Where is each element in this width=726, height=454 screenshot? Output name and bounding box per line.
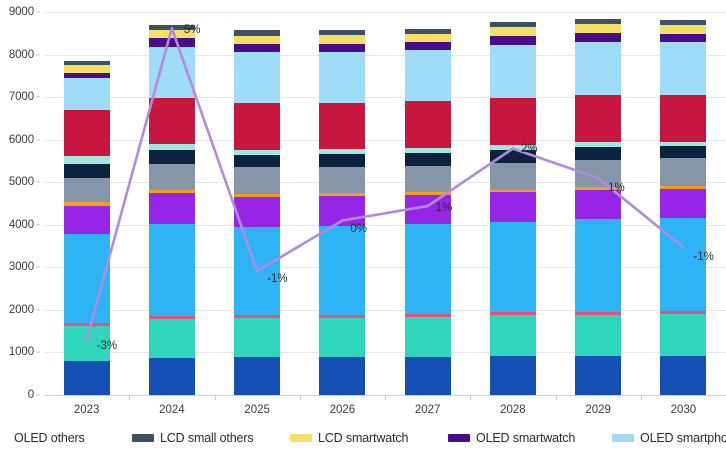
bar-segment[interactable] <box>149 164 195 190</box>
bar-segment[interactable] <box>660 34 706 43</box>
bar-segment[interactable] <box>319 44 365 52</box>
y-tick-label: 5000 <box>9 176 34 188</box>
bar-segment[interactable] <box>490 27 536 36</box>
bar-segment[interactable] <box>575 33 621 42</box>
bar-segment[interactable] <box>64 206 110 234</box>
bar-segment[interactable] <box>149 38 195 47</box>
y-tick-mark <box>36 54 40 55</box>
gridline <box>44 310 726 311</box>
bar-segment[interactable] <box>319 154 365 167</box>
bar-group-2024[interactable] <box>149 12 195 395</box>
bar-segment[interactable] <box>575 160 621 187</box>
bar-segment[interactable] <box>575 42 621 95</box>
bar-segment[interactable] <box>490 222 536 312</box>
bar-segment[interactable] <box>575 356 621 395</box>
legend-swatch <box>132 434 154 442</box>
bar-stack <box>575 19 621 395</box>
bar-segment[interactable] <box>319 318 365 357</box>
gridline <box>44 267 726 268</box>
legend-item[interactable]: LCD smartwatch <box>290 431 408 445</box>
x-tick-mark <box>215 395 216 400</box>
bar-segment[interactable] <box>660 356 706 395</box>
y-tick-label: 2000 <box>9 304 34 316</box>
legend-label: LCD smartwatch <box>318 431 408 445</box>
gridline <box>44 55 726 56</box>
bar-segment[interactable] <box>234 44 280 52</box>
x-tick-label: 2023 <box>74 404 100 416</box>
bar-segment[interactable] <box>234 197 280 227</box>
bar-segment[interactable] <box>490 356 536 395</box>
stacked-bar-chart: 0100020003000400050006000700080009000 -3… <box>0 0 726 454</box>
bar-segment[interactable] <box>660 42 706 95</box>
gridline <box>44 225 726 226</box>
bar-segment[interactable] <box>660 146 706 159</box>
gridline <box>44 182 726 183</box>
legend-swatch <box>290 434 312 442</box>
bar-group-2026[interactable] <box>319 12 365 395</box>
legend-item[interactable]: OLED smartwatch <box>448 431 575 445</box>
legend-label: OLED smartphone <box>640 431 726 445</box>
bar-group-2028[interactable] <box>490 12 536 395</box>
y-tick-label: 3000 <box>9 261 34 273</box>
bar-segment[interactable] <box>64 65 110 73</box>
bar-segment[interactable] <box>64 361 110 395</box>
bar-segment[interactable] <box>575 95 621 142</box>
bar-segment[interactable] <box>405 224 451 313</box>
legend-item[interactable]: OLED others <box>0 431 85 445</box>
bar-segment[interactable] <box>575 24 621 33</box>
bar-segment[interactable] <box>234 103 280 149</box>
bar-segment[interactable] <box>405 153 451 166</box>
bar-segment[interactable] <box>149 30 195 39</box>
x-tick-label: 2028 <box>500 404 526 416</box>
legend-label: OLED others <box>14 431 85 445</box>
legend-item[interactable]: LCD small others <box>132 431 253 445</box>
legend-swatch <box>448 434 470 442</box>
bar-segment[interactable] <box>319 52 365 103</box>
gridline <box>44 352 726 353</box>
bar-segment[interactable] <box>64 178 110 203</box>
bar-segment[interactable] <box>234 52 280 103</box>
x-tick-label: 2029 <box>585 404 611 416</box>
x-tick-mark <box>556 395 557 400</box>
x-tick-label: 2030 <box>671 404 697 416</box>
bar-segment[interactable] <box>149 193 195 224</box>
bar-stack <box>490 22 536 395</box>
bar-segment[interactable] <box>319 196 365 226</box>
bar-segment[interactable] <box>490 315 536 356</box>
bar-segment[interactable] <box>319 103 365 149</box>
bar-stack <box>319 30 365 395</box>
bar-segment[interactable] <box>575 219 621 312</box>
bar-group-2025[interactable] <box>234 12 280 395</box>
legend-item[interactable]: OLED smartphone <box>612 431 726 445</box>
x-tick-label: 2025 <box>244 404 270 416</box>
y-tick-mark <box>36 97 40 98</box>
y-tick-label: 1000 <box>9 346 34 358</box>
plot-area <box>44 12 726 395</box>
bar-segment[interactable] <box>490 98 536 145</box>
y-tick-mark <box>36 309 40 310</box>
bar-segment[interactable] <box>405 195 451 224</box>
y-axis: 0100020003000400050006000700080009000 <box>0 12 40 395</box>
bar-stack <box>405 29 451 395</box>
bar-segment[interactable] <box>405 50 451 101</box>
y-tick-label: 6000 <box>9 134 34 146</box>
bar-segment[interactable] <box>575 315 621 356</box>
bar-segment[interactable] <box>234 318 280 356</box>
bar-group-2030[interactable] <box>660 12 706 395</box>
bar-segment[interactable] <box>234 227 280 316</box>
bar-segment[interactable] <box>405 101 451 147</box>
legend-label: OLED smartwatch <box>476 431 575 445</box>
bar-segment[interactable] <box>490 192 536 222</box>
bar-segment[interactable] <box>64 78 110 109</box>
bar-segment[interactable] <box>319 167 365 193</box>
bar-segment[interactable] <box>319 357 365 395</box>
bar-segment[interactable] <box>490 163 536 190</box>
bar-segment[interactable] <box>490 36 536 45</box>
x-tick-mark <box>385 395 386 400</box>
bar-segment[interactable] <box>234 36 280 45</box>
y-tick-mark <box>36 12 40 13</box>
bar-segment[interactable] <box>660 95 706 141</box>
bar-segment[interactable] <box>149 98 195 144</box>
bar-stack <box>64 61 110 395</box>
bar-segment[interactable] <box>660 189 706 218</box>
bar-stack <box>660 20 706 395</box>
bar-segment[interactable] <box>64 156 110 164</box>
bar-segment[interactable] <box>64 164 110 177</box>
y-tick-mark <box>36 352 40 353</box>
gridline <box>44 97 726 98</box>
bar-group-2023[interactable] <box>64 12 110 395</box>
bar-stack <box>149 25 195 395</box>
bar-segment[interactable] <box>149 150 195 164</box>
bar-segment[interactable] <box>660 158 706 185</box>
gridline <box>44 140 726 141</box>
bar-segment[interactable] <box>319 226 365 315</box>
x-tick-mark <box>129 395 130 400</box>
x-tick-label: 2026 <box>330 404 356 416</box>
bar-segment[interactable] <box>149 358 195 395</box>
y-tick-label: 0 <box>28 389 34 401</box>
bar-segment[interactable] <box>490 150 536 163</box>
x-tick-label: 2024 <box>159 404 185 416</box>
bar-segment[interactable] <box>575 190 621 219</box>
bar-segment[interactable] <box>405 357 451 395</box>
x-tick-label: 2027 <box>415 404 441 416</box>
x-tick-mark <box>300 395 301 400</box>
bar-segment[interactable] <box>660 218 706 312</box>
x-axis: 20232024202520262027202820292030 <box>44 395 726 425</box>
y-tick-label: 8000 <box>9 49 34 61</box>
bar-segment[interactable] <box>64 326 110 361</box>
x-tick-mark <box>470 395 471 400</box>
bar-segment[interactable] <box>575 147 621 160</box>
bar-group-2027[interactable] <box>405 12 451 395</box>
y-tick-mark <box>36 224 40 225</box>
bar-segment[interactable] <box>405 34 451 43</box>
x-tick-mark <box>641 395 642 400</box>
bar-segment[interactable] <box>234 357 280 395</box>
bar-group-2029[interactable] <box>575 12 621 395</box>
bar-segment[interactable] <box>149 47 195 98</box>
chart-legend: OLED othersLCD small othersLCD smartwatc… <box>0 428 726 454</box>
y-tick-label: 4000 <box>9 219 34 231</box>
bar-segment[interactable] <box>660 314 706 356</box>
bar-segment[interactable] <box>234 167 280 193</box>
y-tick-mark <box>36 182 40 183</box>
bar-segment[interactable] <box>405 166 451 192</box>
bar-segment[interactable] <box>149 224 195 316</box>
bar-segment[interactable] <box>490 45 536 98</box>
y-tick-label: 9000 <box>9 6 34 18</box>
y-tick-label: 7000 <box>9 91 34 103</box>
y-tick-mark <box>36 267 40 268</box>
bar-segment[interactable] <box>64 110 110 156</box>
gridline <box>44 12 726 13</box>
bar-segment[interactable] <box>405 42 451 50</box>
legend-swatch <box>612 434 634 442</box>
bar-segment[interactable] <box>660 25 706 34</box>
bar-segment[interactable] <box>149 319 195 357</box>
bar-segment[interactable] <box>319 35 365 44</box>
y-tick-mark <box>36 139 40 140</box>
bar-segment[interactable] <box>405 317 451 357</box>
legend-label: LCD small others <box>160 431 253 445</box>
bar-segment[interactable] <box>234 155 280 168</box>
bar-stack <box>234 30 280 395</box>
bar-segment[interactable] <box>64 234 110 323</box>
y-tick-mark <box>36 395 40 396</box>
